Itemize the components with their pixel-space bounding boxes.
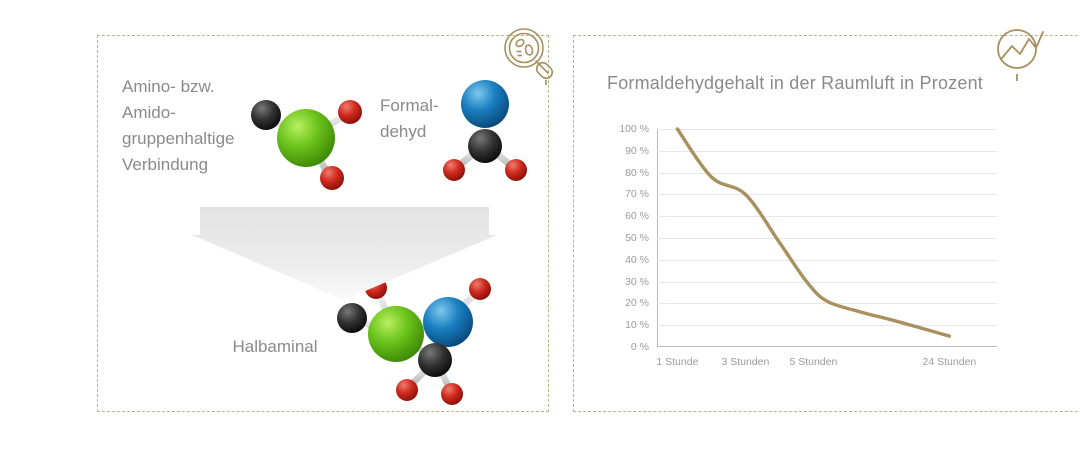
x-tick-label: 1 Stunde	[656, 356, 698, 368]
x-tick-label: 24 Stunden	[923, 356, 977, 368]
y-tick-label: 10 %	[625, 319, 649, 331]
y-tick-label: 40 %	[625, 254, 649, 266]
y-tick-label: 80 %	[625, 167, 649, 179]
y-tick-label: 0 %	[631, 341, 649, 353]
y-tick-label: 70 %	[625, 188, 649, 200]
y-tick-label: 20 %	[625, 297, 649, 309]
x-tick-label: 3 Stunden	[721, 356, 769, 368]
y-tick-label: 60 %	[625, 210, 649, 222]
down-arrow-icon	[192, 205, 497, 300]
x-tick-label: 5 Stunden	[789, 356, 837, 368]
y-tick-label: 100 %	[619, 123, 649, 135]
y-tick-label: 90 %	[625, 145, 649, 157]
formaldehyde-molecule	[428, 72, 542, 186]
chart-title: Formaldehydgehalt in der Raumluft in Pro…	[607, 73, 983, 94]
chart-plot: 0 %10 %20 %30 %40 %50 %60 %70 %80 %90 %1…	[657, 129, 997, 347]
amino-compound-molecule	[238, 82, 374, 194]
trend-chart-icon	[988, 22, 1052, 86]
y-tick-label: 50 %	[625, 232, 649, 244]
data-series	[657, 129, 997, 347]
y-tick-label: 30 %	[625, 276, 649, 288]
chart-area: 0 %10 %20 %30 %40 %50 %60 %70 %80 %90 %1…	[602, 120, 1022, 378]
